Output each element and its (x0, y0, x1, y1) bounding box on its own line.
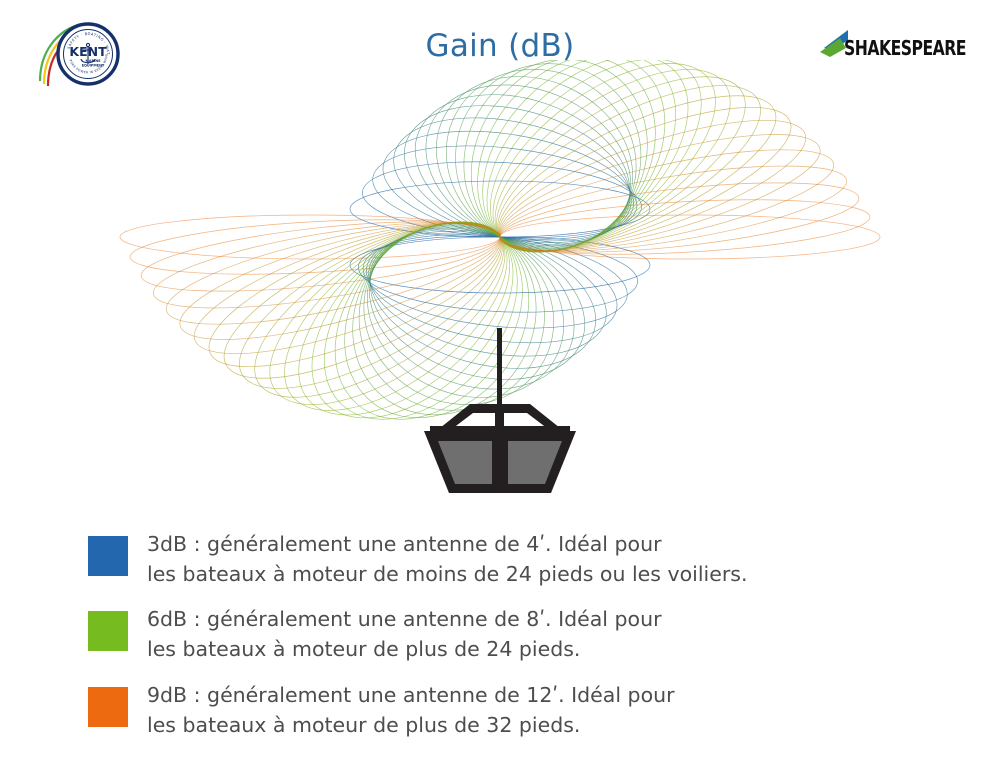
legend-line1-6db: 6dB : généralement une antenne de 8ʹ. Id… (147, 607, 662, 631)
shakespeare-wordmark: SHAKESPEARE (844, 36, 966, 60)
legend-swatch-3db (88, 536, 128, 576)
legend-swatch-6db (88, 611, 128, 651)
list-item: 9dB : généralement une antenne de 12ʹ. I… (88, 681, 908, 740)
legend-line1-3db: 3dB : généralement une antenne de 4ʹ. Id… (147, 532, 662, 556)
legend-swatch-9db (88, 687, 128, 727)
legend-line2-3db: les bateaux à moteur de moins de 24 pied… (147, 560, 747, 590)
lobe-curve (138, 208, 503, 304)
legend-line2-9db: les bateaux à moteur de plus de 32 pieds… (147, 711, 675, 741)
lobe-curve (129, 212, 502, 283)
list-item: 6dB : généralement une antenne de 8ʹ. Id… (88, 605, 908, 664)
slide-root: SAFETY · BOATING · WATERSPORTS PURE POWE… (0, 0, 1000, 781)
lobe-curve (402, 60, 655, 276)
lobe-curve (471, 60, 771, 286)
legend-line1-9db: 9dB : généralement une antenne de 12ʹ. I… (147, 683, 675, 707)
antenna-radiation-pattern (0, 60, 1000, 520)
lobe-curve (471, 60, 771, 286)
lobe-curve (415, 60, 668, 282)
lobe-curve (402, 60, 655, 276)
lobe-curve (497, 169, 862, 265)
list-item: 3dB : généralement une antenne de 4ʹ. Id… (88, 530, 908, 589)
lobe-curve (499, 192, 872, 263)
antenna-mast (497, 328, 502, 414)
legend: 3dB : généralement une antenne de 4ʹ. Id… (88, 530, 908, 756)
legend-line2-6db: les bateaux à moteur de plus de 24 pieds… (147, 635, 662, 665)
